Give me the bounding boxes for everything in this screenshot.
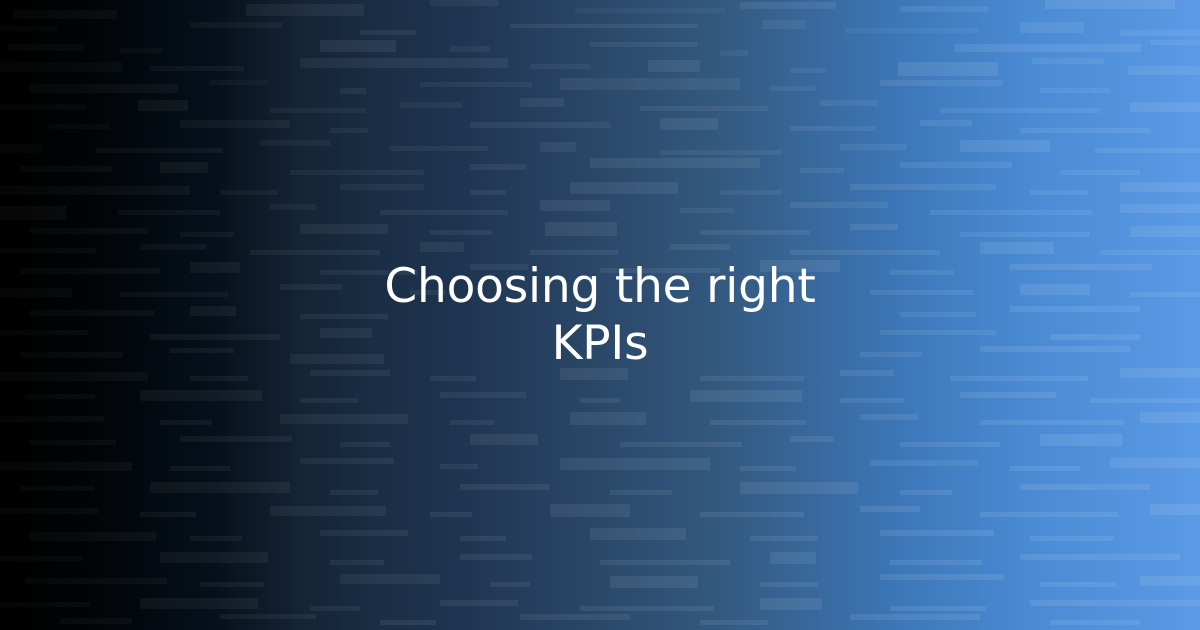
title-container: Choosing the right KPIs <box>0 0 1200 630</box>
og-card: Choosing the right KPIs <box>0 0 1200 630</box>
page-title: Choosing the right KPIs <box>370 258 830 372</box>
